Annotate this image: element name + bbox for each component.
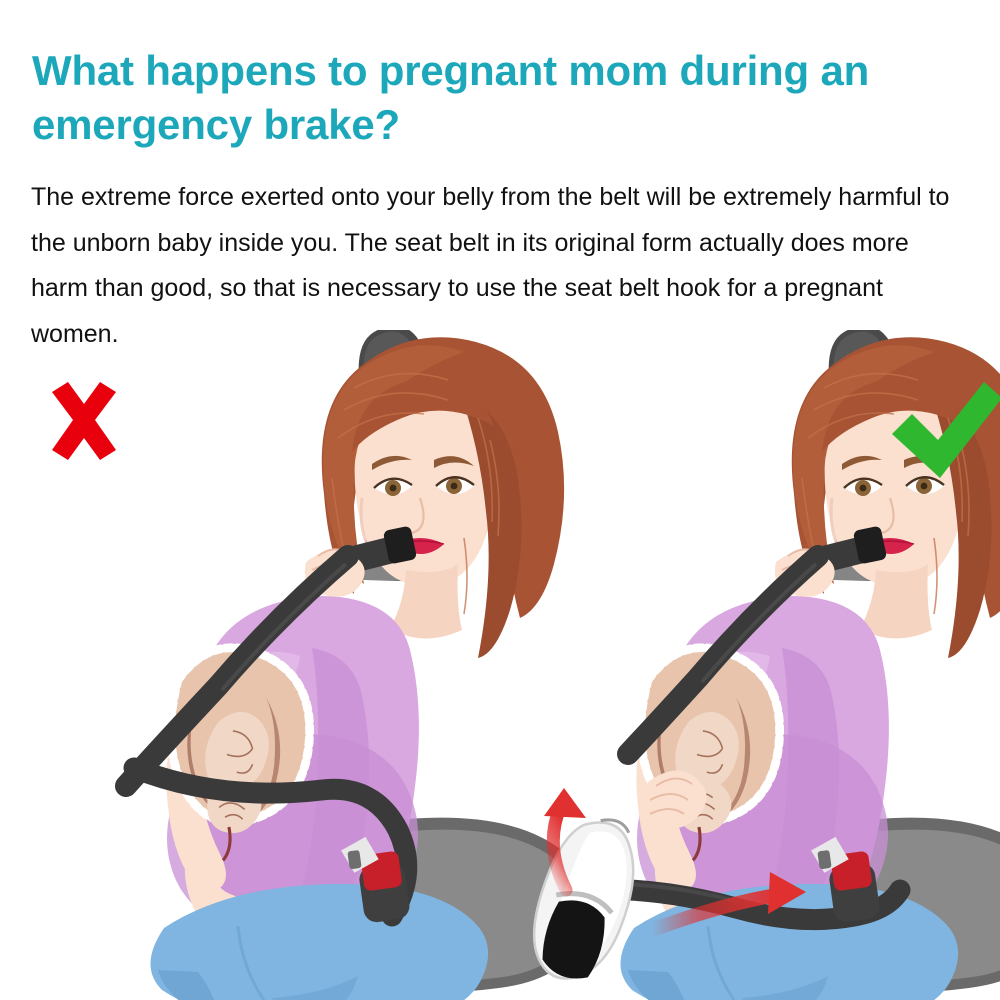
x-mark-icon xyxy=(52,382,116,460)
page-title: What happens to pregnant mom during an e… xyxy=(32,44,962,152)
infographic-page: What happens to pregnant mom during an e… xyxy=(0,0,1000,1000)
left-illustration-incorrect xyxy=(52,330,589,1000)
right-illustration-correct xyxy=(524,330,1000,1000)
illustration-area xyxy=(0,330,1000,1000)
